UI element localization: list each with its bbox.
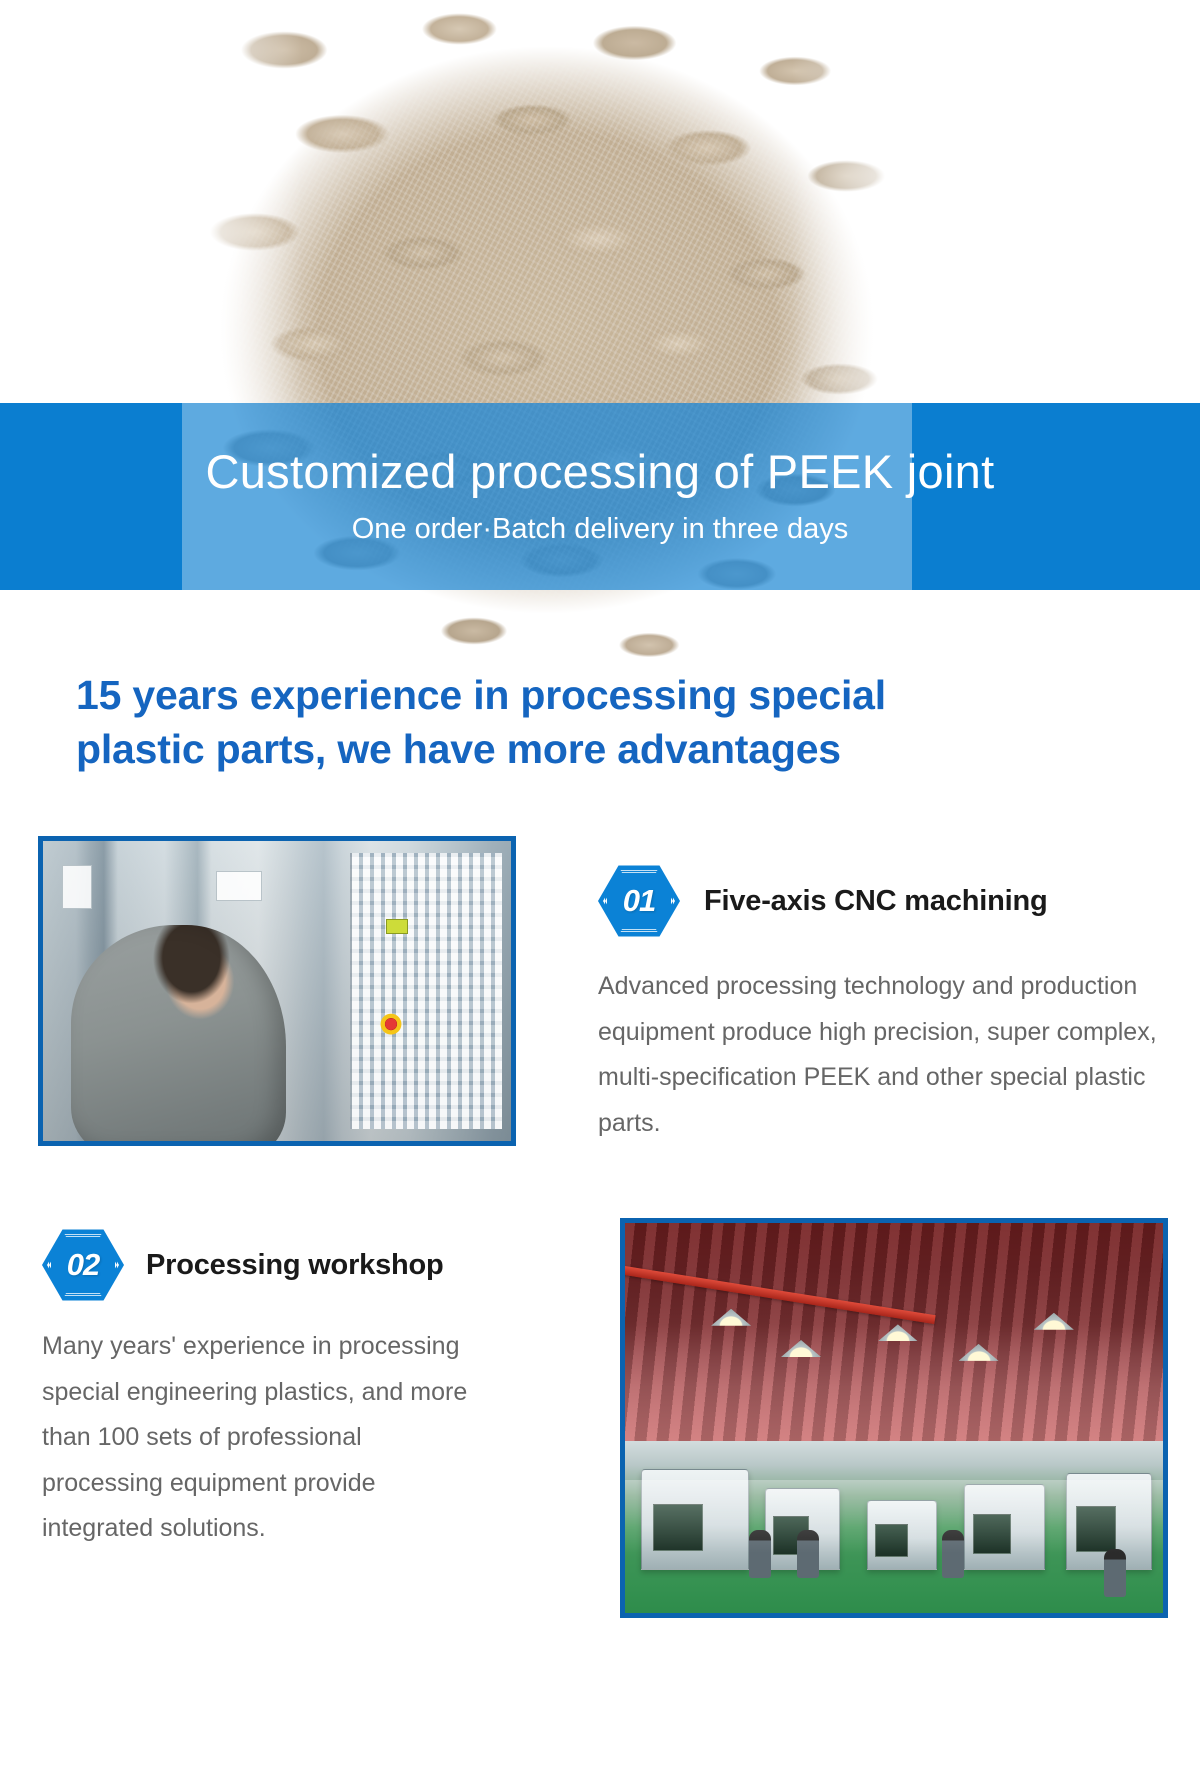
feature-01-body: Advanced processing technology and produ… [598,964,1158,1146]
ceiling-lamp-icon [1034,1313,1074,1330]
ceiling-lamp-icon [959,1344,999,1361]
hero-banner: Customized processing of PEEK joint One … [0,403,1200,590]
feature-02-text-column: 02 Processing workshop Many years' exper… [42,1228,522,1552]
product-detail-page: Customized processing of PEEK joint One … [0,0,1200,1772]
ceiling-lamp-icon [878,1324,918,1341]
hexagon-number-badge: 01 [598,864,680,938]
factory-worker [797,1530,819,1578]
feature-02-body: Many years' experience in processing spe… [42,1324,482,1552]
hexagon-number-badge: 02 [42,1228,124,1302]
page-headline-line-2: plastic parts, we have more advantages [76,722,1136,776]
feature-01-number: 01 [598,864,680,938]
feature-02-number: 02 [42,1228,124,1302]
hazard-label-icon [386,919,408,934]
banner-text-block: Customized processing of PEEK joint One … [0,403,1200,590]
feature-block-01: 01 Five-axis CNC machining Advanced proc… [0,830,1200,1190]
ceiling-lamp-icon [711,1309,751,1326]
factory-worker [942,1530,964,1578]
feature-01-photo-frame [38,836,516,1146]
ceiling-lamp-icon [781,1340,821,1357]
feature-01-title: Five-axis CNC machining [704,885,1048,918]
banner-title: Customized processing of PEEK joint [206,447,995,496]
page-headline-line-1: 15 years experience in processing specia… [76,668,1136,722]
factory-worker [1104,1549,1126,1597]
feature-02-header: 02 Processing workshop [42,1228,522,1302]
cnc-machine-unit [641,1469,749,1570]
feature-01-text-column: 01 Five-axis CNC machining Advanced proc… [598,864,1158,1146]
factory-worker [749,1530,771,1578]
factory-workshop-image [625,1223,1163,1613]
feature-02-title: Processing workshop [146,1249,444,1282]
cnc-machine-unit [867,1500,937,1570]
feature-01-header: 01 Five-axis CNC machining [598,864,1158,938]
banner-subtitle: One order·Batch delivery in three days [352,513,848,546]
machine-warning-sticker [216,871,262,901]
machine-notice-sticker [62,865,92,909]
cnc-machine-operator-image [43,841,511,1141]
cnc-machine-unit [964,1484,1045,1570]
feature-02-photo-frame [620,1218,1168,1618]
page-headline: 15 years experience in processing specia… [76,668,1136,776]
feature-block-02: 02 Processing workshop Many years' exper… [0,1196,1200,1772]
